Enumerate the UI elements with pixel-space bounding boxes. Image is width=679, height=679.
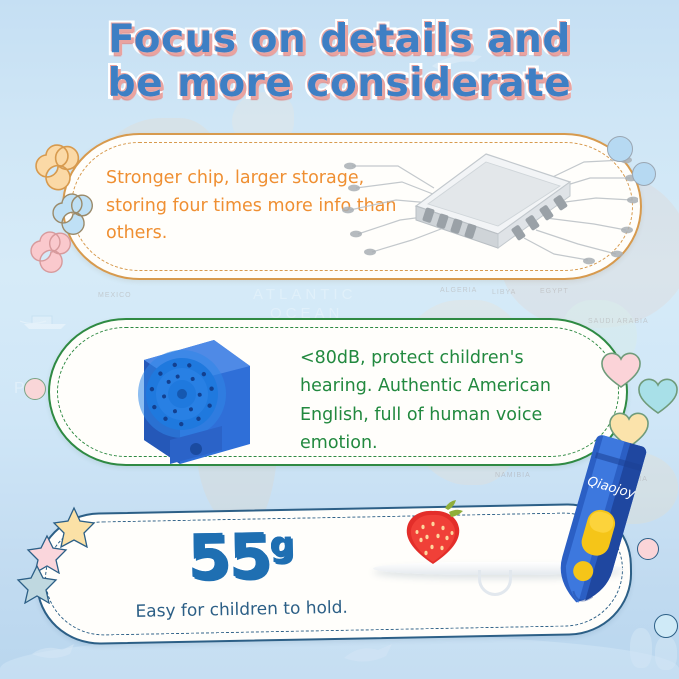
boat-icon: [20, 308, 72, 330]
whale-icon: [30, 640, 78, 660]
map-label-egypt: EGYPT: [540, 288, 569, 295]
clover-orange-decoration: [28, 141, 88, 193]
heart-teal-decoration: [637, 378, 679, 416]
feature-card-weight-content: 55g Easy for children to hold.: [95, 523, 387, 623]
page-title-line2: be more considerate: [0, 62, 679, 106]
map-label-algeria: ALGERIA: [440, 287, 477, 294]
circle-pink-decoration: [24, 378, 46, 400]
microchip-image: [338, 148, 638, 270]
circle-blue-decoration: [654, 614, 678, 638]
clover-pink-decoration: [24, 228, 80, 276]
heart-pink-decoration: [600, 352, 642, 390]
reading-pen-image: Qiaojoy: [540, 434, 660, 620]
weight-value: 55g: [95, 523, 386, 591]
page-title: Focus on details and be more considerate: [0, 18, 679, 105]
weight-unit: g: [269, 524, 294, 564]
circle-pink-decoration: [637, 538, 659, 560]
page-title-line1: Focus on details and: [0, 18, 679, 62]
weight-caption: Easy for children to hold.: [97, 597, 387, 623]
map-label-mexico: MEXICO: [98, 292, 132, 299]
scale-strawberry-pen-image: Qiaojoy: [355, 440, 679, 655]
star-blue-decoration: [16, 564, 58, 604]
strawberry-icon: [397, 496, 469, 568]
map-label-libya: LIBYA: [492, 289, 516, 296]
map-label-atlantic: ATLANTIC: [253, 286, 356, 303]
circle-blue-decoration: [632, 162, 656, 186]
weight-number: 55: [187, 519, 271, 594]
map-label-saudi-arabia: SAUDI ARABIA: [588, 318, 649, 325]
blue-speaker-image: [110, 332, 270, 467]
circle-blue-decoration: [607, 136, 633, 162]
product-infographic: ATLANTIC OCEAN MEXICO ALGERIA LIBYA EGYP…: [0, 0, 679, 679]
scale-stem: [478, 570, 512, 596]
